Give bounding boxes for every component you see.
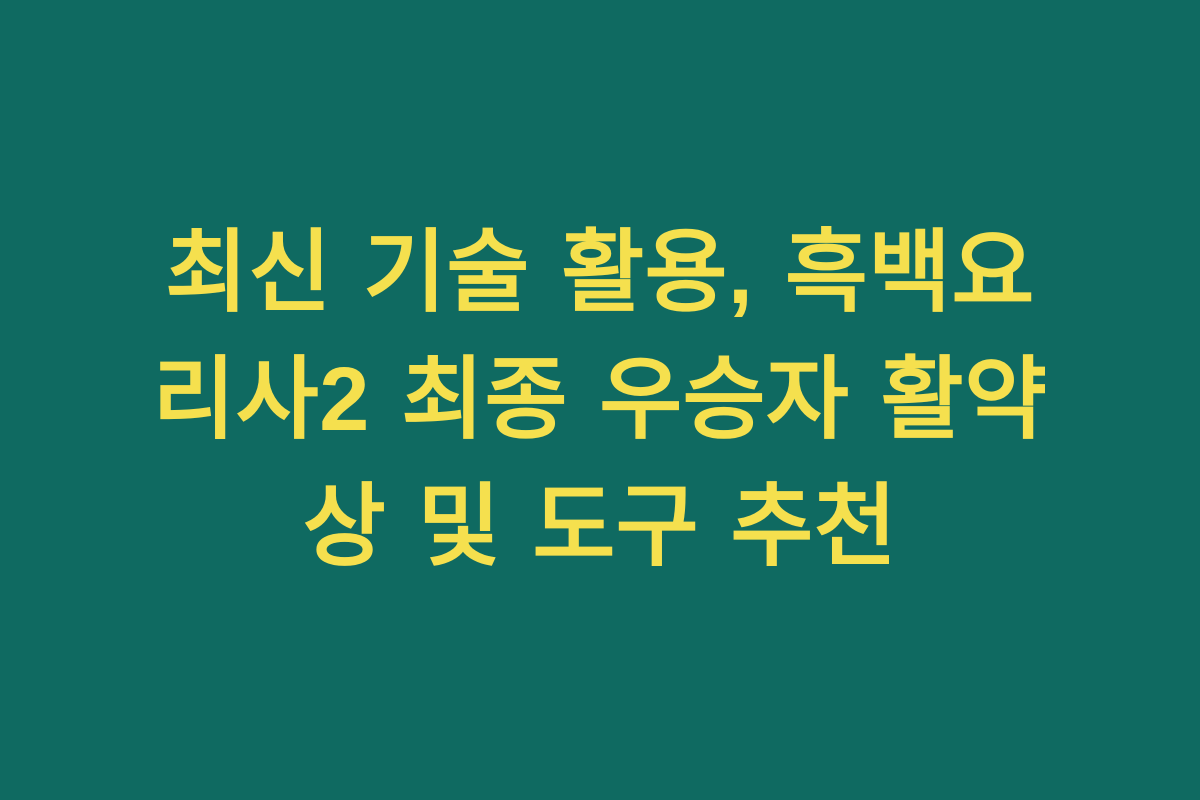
headline-line-1: 최신 기술 활용, 흑백요 <box>80 210 1120 337</box>
page-title: 최신 기술 활용, 흑백요 리사2 최종 우승자 활약 상 및 도구 추천 <box>80 210 1120 591</box>
thumbnail-card: 최신 기술 활용, 흑백요 리사2 최종 우승자 활약 상 및 도구 추천 <box>0 0 1200 800</box>
headline-line-2: 리사2 최종 우승자 활약 <box>80 337 1120 464</box>
headline-line-3: 상 및 도구 추천 <box>80 464 1120 591</box>
